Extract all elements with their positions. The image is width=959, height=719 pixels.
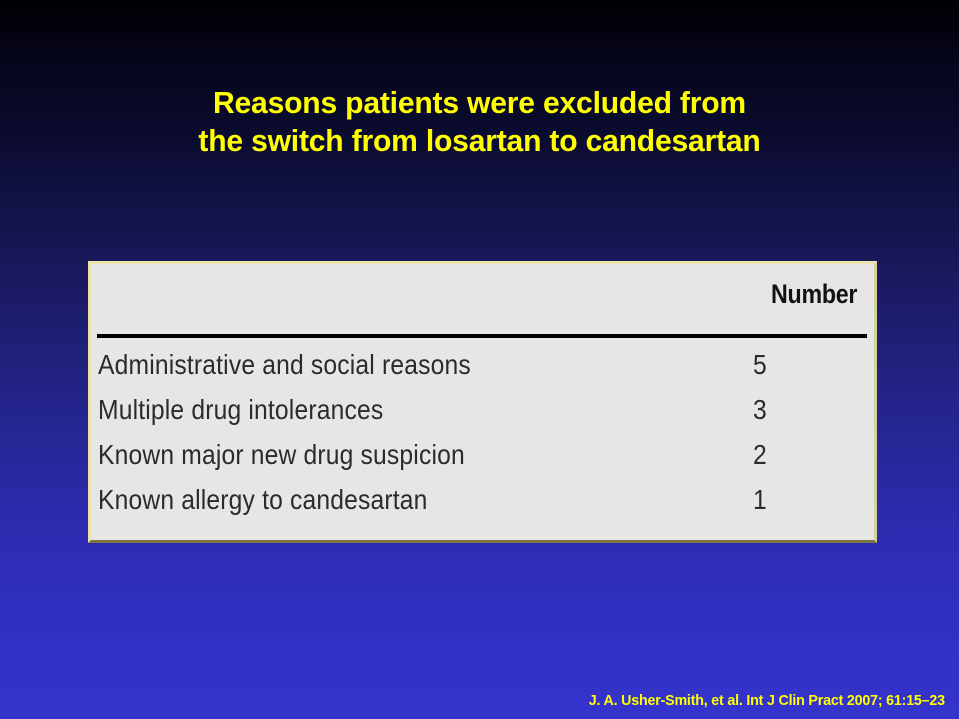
table-body: Administrative and social reasons 5 Mult… bbox=[91, 348, 874, 528]
data-table: Number Administrative and social reasons… bbox=[88, 261, 877, 543]
slide-canvas: Reasons patients were excluded from the … bbox=[0, 0, 959, 719]
page-title: Reasons patients were excluded from the … bbox=[0, 84, 959, 160]
table-row: Administrative and social reasons 5 bbox=[91, 348, 874, 393]
row-number-value: 3 bbox=[753, 393, 767, 427]
table-row: Known allergy to candesartan 1 bbox=[91, 483, 874, 528]
table-row: Known major new drug suspicion 2 bbox=[91, 438, 874, 483]
header-divider-rule bbox=[97, 334, 867, 338]
row-reason-label: Multiple drug intolerances bbox=[98, 393, 383, 427]
table-inner: Number Administrative and social reasons… bbox=[91, 264, 874, 540]
title-line-1: Reasons patients were excluded from bbox=[14, 84, 944, 122]
row-reason-label: Known major new drug suspicion bbox=[98, 438, 465, 472]
row-number-value: 5 bbox=[753, 348, 767, 382]
table-header-row: Number bbox=[91, 264, 874, 334]
title-line-2: the switch from losartan to candesartan bbox=[14, 122, 944, 160]
row-number-value: 1 bbox=[753, 483, 767, 517]
source-citation: J. A. Usher-Smith, et al. Int J Clin Pra… bbox=[589, 692, 945, 709]
table-row: Multiple drug intolerances 3 bbox=[91, 393, 874, 438]
row-number-value: 2 bbox=[753, 438, 767, 472]
column-header-number: Number bbox=[771, 279, 857, 310]
row-reason-label: Administrative and social reasons bbox=[98, 348, 471, 382]
row-reason-label: Known allergy to candesartan bbox=[98, 483, 428, 517]
